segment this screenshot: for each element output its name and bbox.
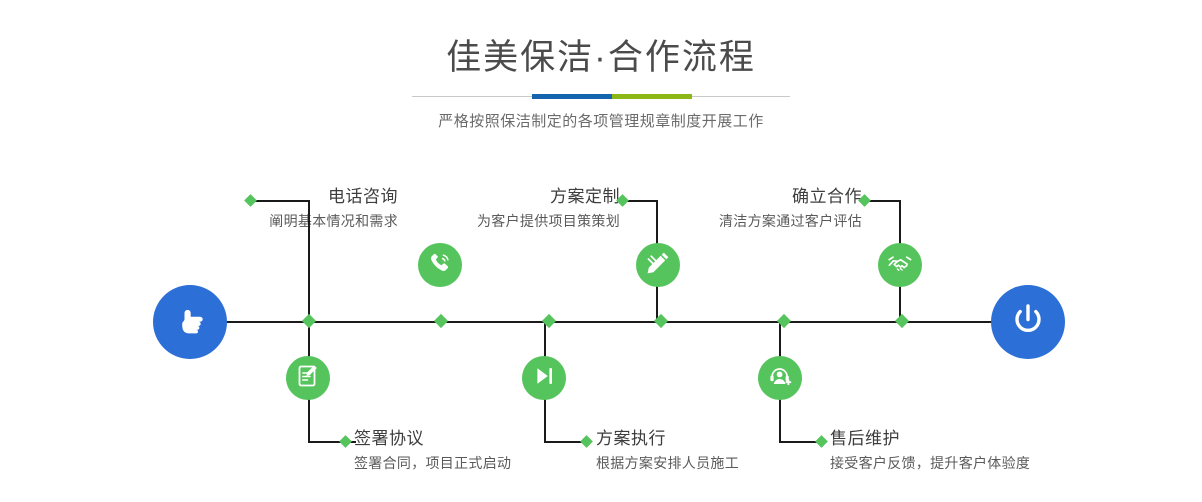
pointing-hand-icon <box>170 300 210 345</box>
title-divider <box>412 94 790 100</box>
step-label-1: 电话咨询 阐明基本情况和需求 <box>198 186 398 231</box>
step-title-5: 售后维护 <box>830 428 1130 450</box>
step-icon-1 <box>418 243 462 287</box>
step-label-4: 方案执行 根据方案安排人员施工 <box>596 428 846 473</box>
step-title-6: 确立合作 <box>690 186 862 208</box>
step-title-1: 电话咨询 <box>198 186 398 208</box>
step-icon-6 <box>878 243 922 287</box>
flow-diagram-page: 佳美保洁·合作流程 严格按照保洁制定的各项管理规章制度开展工作 <box>0 0 1202 502</box>
handshake-icon <box>887 250 913 281</box>
power-icon <box>1007 299 1049 346</box>
step-desc-3: 为客户提供项目策策划 <box>450 211 620 231</box>
pencil-ruler-icon <box>645 250 671 281</box>
document-edit-icon <box>295 363 321 394</box>
step-title-3: 方案定制 <box>450 186 620 208</box>
timeline-marker-2 <box>434 314 448 328</box>
step-label-3: 方案定制 为客户提供项目策策划 <box>450 186 620 231</box>
step-title-2: 签署协议 <box>354 428 614 450</box>
label-marker-2 <box>339 435 352 448</box>
step-icon-4 <box>522 356 566 400</box>
step-title-4: 方案执行 <box>596 428 846 450</box>
divider-segment-blue <box>532 94 612 99</box>
page-subtitle: 严格按照保洁制定的各项管理规章制度开展工作 <box>0 112 1202 132</box>
step-desc-1: 阐明基本情况和需求 <box>198 211 398 231</box>
timeline-marker-1 <box>302 314 316 328</box>
page-header: 佳美保洁·合作流程 严格按照保洁制定的各项管理规章制度开展工作 <box>0 0 1202 132</box>
phone-call-icon <box>427 250 453 281</box>
timeline-axis <box>218 321 1008 323</box>
step-label-6: 确立合作 清洁方案通过客户评估 <box>690 186 862 231</box>
timeline-start-node <box>153 285 227 359</box>
page-title: 佳美保洁·合作流程 <box>0 36 1202 80</box>
step-label-2: 签署协议 签署合同，项目正式启动 <box>354 428 614 473</box>
step-desc-6: 清洁方案通过客户评估 <box>690 211 862 231</box>
step-icon-3 <box>636 243 680 287</box>
divider-segment-green <box>612 94 692 99</box>
connector-horizontal-1 <box>250 200 310 202</box>
step-icon-5 <box>758 356 802 400</box>
step-desc-5: 接受客户反馈，提升客户体验度 <box>830 453 1130 473</box>
step-label-5: 售后维护 接受客户反馈，提升客户体验度 <box>830 428 1130 473</box>
connector-vertical-1 <box>308 200 310 322</box>
timeline-end-node <box>991 285 1065 359</box>
step-desc-2: 签署合同，项目正式启动 <box>354 453 614 473</box>
timeline-marker-6 <box>895 314 909 328</box>
play-skip-icon <box>531 363 557 394</box>
step-desc-4: 根据方案安排人员施工 <box>596 453 846 473</box>
step-icon-2 <box>286 356 330 400</box>
customer-service-add-icon <box>767 363 793 394</box>
